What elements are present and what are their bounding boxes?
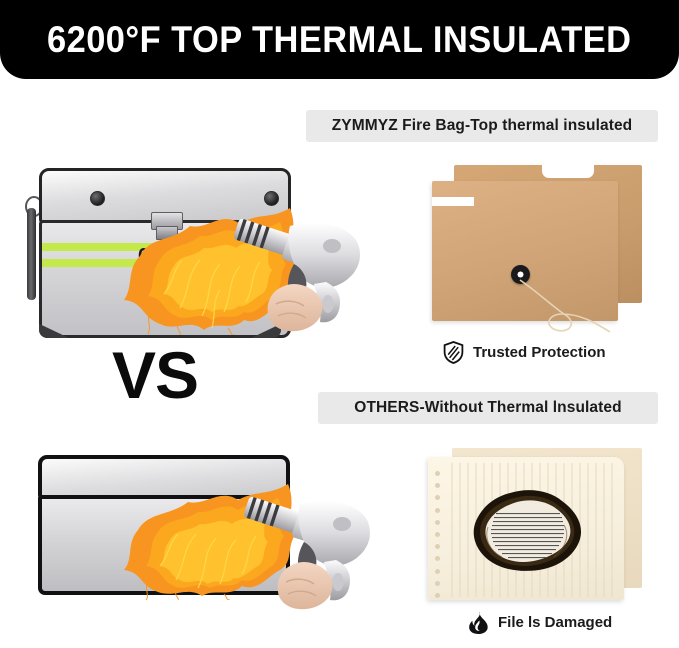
label-others-bag: OTHERS-Without Thermal lnsulated xyxy=(318,392,658,424)
butane-torch-bottom xyxy=(238,470,378,610)
label-zymmyz-bag: ZYMMYZ Fire Bag-Top thermal insulated xyxy=(306,110,658,142)
bag-wrist-strap xyxy=(27,208,36,300)
punch-hole xyxy=(435,508,440,513)
punch-hole xyxy=(435,495,440,500)
envelope-front-sheet xyxy=(432,181,618,321)
punch-hole xyxy=(435,483,440,488)
bag-clasp-lower xyxy=(156,226,178,240)
shield-icon xyxy=(443,341,464,364)
punch-hole xyxy=(435,556,440,561)
caption-trusted-protection-text: Trusted Protection xyxy=(473,344,606,361)
punch-hole xyxy=(435,581,440,586)
envelope-front-step xyxy=(432,197,474,206)
product-comparison-infographic: 6200°F TOP THERMAL INSULATED 6 xyxy=(0,0,679,648)
burn-hole xyxy=(468,487,588,575)
bag-temperature-print: 6 xyxy=(138,245,150,268)
punch-hole xyxy=(435,569,440,574)
flame-icon xyxy=(468,611,489,634)
label-others-bag-text: OTHERS-Without Thermal lnsulated xyxy=(354,399,621,417)
paper-punch-holes xyxy=(435,471,443,589)
kraft-envelope-intact xyxy=(432,165,644,325)
punch-hole xyxy=(435,520,440,525)
caption-trusted-protection: Trusted Protection xyxy=(443,341,606,364)
punch-hole xyxy=(435,544,440,549)
label-zymmyz-bag-text: ZYMMYZ Fire Bag-Top thermal insulated xyxy=(332,117,633,135)
punch-hole xyxy=(435,532,440,537)
bag-rivet-left xyxy=(90,191,105,206)
caption-file-damaged-text: File ls Damaged xyxy=(498,614,612,631)
vs-label: VS xyxy=(112,337,198,413)
punch-hole xyxy=(435,471,440,476)
envelope-string xyxy=(518,276,613,336)
punch-hole xyxy=(435,593,440,598)
butane-torch-top xyxy=(228,192,368,332)
burned-document-illustration xyxy=(428,448,646,603)
paper-front-sheet xyxy=(428,457,624,600)
banner-title: 6200°F TOP THERMAL INSULATED xyxy=(47,19,631,61)
caption-file-damaged: File ls Damaged xyxy=(468,611,612,634)
envelope-back-notch xyxy=(542,165,594,178)
vs-divider: VS xyxy=(0,340,310,410)
header-banner: 6200°F TOP THERMAL INSULATED xyxy=(0,0,679,79)
